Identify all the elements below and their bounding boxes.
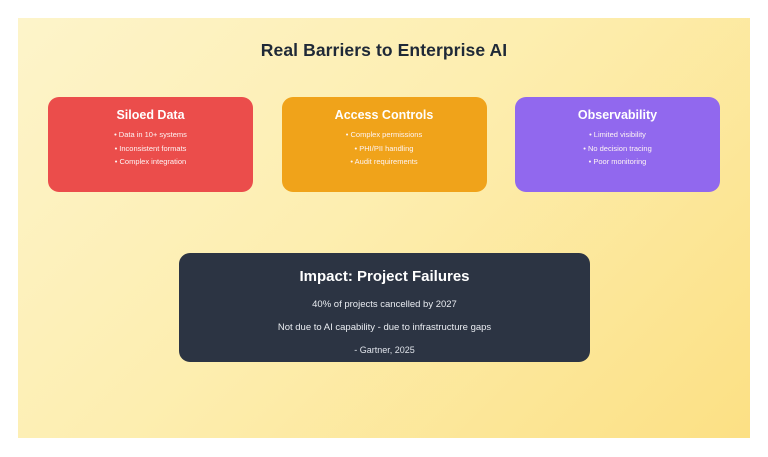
card-title: Access Controls [335,108,434,122]
card-bullet-list: • Limited visibility • No decision traci… [583,131,652,166]
barrier-card-observability[interactable]: Observability • Limited visibility • No … [515,97,720,192]
card-bullet-item: • PHI/PII handling [355,145,414,153]
slide-canvas: Real Barriers to Enterprise AI Siloed Da… [18,18,750,438]
impact-detail: Not due to AI capability - due to infras… [278,322,491,333]
card-bullet-item: • Data in 10+ systems [114,131,187,139]
impact-source: - Gartner, 2025 [354,345,415,355]
impact-panel: Impact: Project Failures 40% of projects… [179,253,590,362]
card-bullet-item: • Poor monitoring [589,158,647,166]
card-bullet-item: • Complex permissions [346,131,422,139]
card-bullet-list: • Complex permissions • PHI/PII handling… [346,131,422,166]
barrier-card-siloed-data[interactable]: Siloed Data • Data in 10+ systems • Inco… [48,97,253,192]
card-title: Observability [578,108,657,122]
impact-title: Impact: Project Failures [299,268,469,285]
card-bullet-item: • Limited visibility [589,131,646,139]
card-bullet-item: • Inconsistent formats [115,145,187,153]
barrier-card-access-controls[interactable]: Access Controls • Complex permissions • … [282,97,487,192]
card-bullet-list: • Data in 10+ systems • Inconsistent for… [114,131,187,166]
card-title: Siloed Data [116,108,184,122]
card-bullet-item: • Audit requirements [350,158,417,166]
card-bullet-item: • No decision tracing [583,145,652,153]
page-title: Real Barriers to Enterprise AI [18,40,750,61]
card-bullet-item: • Complex integration [115,158,186,166]
impact-stat: 40% of projects cancelled by 2027 [312,299,457,310]
barrier-cards-row: Siloed Data • Data in 10+ systems • Inco… [48,97,720,192]
